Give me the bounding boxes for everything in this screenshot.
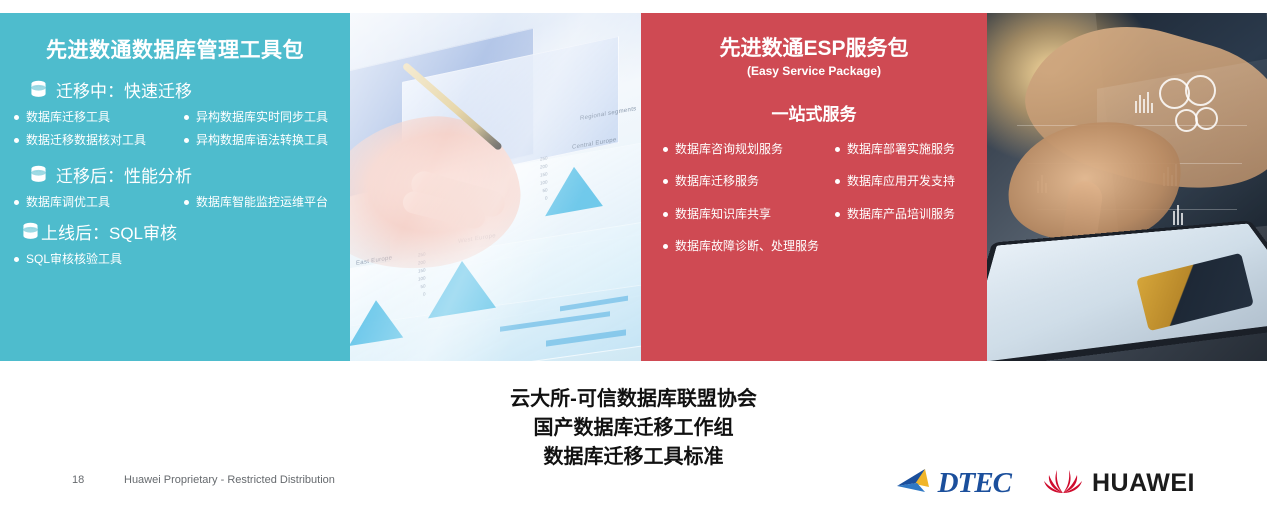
photo-hud-bar <box>1139 95 1141 113</box>
list-item: 数据库智能监控运维平台 <box>184 196 354 209</box>
bullet-dot-icon <box>835 147 840 152</box>
photo-hud-bar <box>1143 99 1145 113</box>
teal-bullet-grid-2: 数据库调优工具 数据库智能监控运维平台 <box>14 196 336 209</box>
list-item: 数据库咨询规划服务 <box>663 143 835 156</box>
list-item-label: 数据库部署实施服务 <box>847 143 955 156</box>
list-item: 数据库调优工具 <box>14 196 184 209</box>
photo-hud-bar <box>1147 92 1149 113</box>
teal-toolkit-panel: 先进数通数据库管理工具包 迁移中：快速迁移 数据库迁移工具 异构数据库实时同步工… <box>0 13 350 361</box>
teal-section-heading-2: 迁移后：性能分析 <box>30 162 336 187</box>
list-item-label: 数据库知识库共享 <box>675 208 771 221</box>
photo-hud-bar <box>1151 103 1153 113</box>
list-item: 数据库故障诊断、处理服务 <box>663 240 971 253</box>
dtec-swoosh-icon <box>895 466 937 501</box>
bullet-dot-icon <box>835 179 840 184</box>
huawei-logo: HUAWEI <box>1043 467 1195 500</box>
red-panel-subtitle: (Easy Service Package) <box>657 64 971 78</box>
bullet-dot-icon <box>663 147 668 152</box>
list-item-label: 数据库应用开发支持 <box>847 175 955 188</box>
teal-section-heading-3: 上线后：SQL审核 <box>22 219 336 244</box>
list-item-label: 异构数据库语法转换工具 <box>196 134 328 147</box>
list-item: 异构数据库语法转换工具 <box>184 134 354 147</box>
tablet-photo <box>987 13 1267 361</box>
page-number: 18 <box>72 474 84 486</box>
red-panel-title: 先进数通ESP服务包 <box>657 37 971 61</box>
bullet-dot-icon <box>663 244 668 249</box>
footer-logos: DTEC HUAWEI <box>895 466 1195 501</box>
caption-line-1: 云大所-可信数据库联盟协会 <box>0 385 1267 414</box>
list-item: 数据库知识库共享 <box>663 208 835 221</box>
dtec-logo: DTEC <box>895 466 1011 501</box>
red-panel-section-title: 一站式服务 <box>657 100 971 125</box>
bullet-dot-icon <box>184 200 189 205</box>
huawei-wordmark: HUAWEI <box>1092 471 1195 496</box>
list-item-label: 数据库迁移工具 <box>26 111 110 124</box>
list-item-label: 数据库智能监控运维平台 <box>196 196 328 209</box>
teal-section-label-1: 迁移中：快速迁移 <box>56 77 192 102</box>
slide-caption: 云大所-可信数据库联盟协会 国产数据库迁移工作组 数据库迁移工具标准 <box>0 385 1267 472</box>
bullet-dot-icon <box>835 212 840 217</box>
charts-photo: Regional segments Central Europe West Eu… <box>350 13 641 361</box>
bullet-dot-icon <box>14 138 19 143</box>
bullet-dot-icon <box>663 179 668 184</box>
list-item: 数据库应用开发支持 <box>835 175 995 188</box>
slide-footer: 18 Huawei Proprietary - Restricted Distr… <box>0 466 1267 500</box>
teal-section-label-3: 上线后：SQL审核 <box>41 219 177 244</box>
list-item-label: 数据库故障诊断、处理服务 <box>675 240 819 253</box>
dtec-wordmark: DTEC <box>938 469 1011 498</box>
list-item: 数据库迁移服务 <box>663 175 835 188</box>
list-item-label: 数据库咨询规划服务 <box>675 143 783 156</box>
bullet-dot-icon <box>663 212 668 217</box>
bullet-dot-icon <box>184 115 189 120</box>
huawei-flower-icon <box>1043 467 1083 500</box>
list-item: 数据库部署实施服务 <box>835 143 995 156</box>
bullet-dot-icon <box>14 200 19 205</box>
photo-hud-bar <box>1177 205 1179 225</box>
photo-axis-ticks: 250200150100500 <box>540 154 548 203</box>
list-item: 异构数据库实时同步工具 <box>184 111 354 124</box>
teal-panel-title: 先进数通数据库管理工具包 <box>14 38 336 63</box>
bullet-dot-icon <box>14 115 19 120</box>
slide-content-band: 先进数通数据库管理工具包 迁移中：快速迁移 数据库迁移工具 异构数据库实时同步工… <box>0 13 1267 361</box>
photo-hud-bar <box>1173 211 1175 225</box>
teal-bullet-grid-3: SQL审核核验工具 <box>14 253 336 266</box>
list-item-label: 数据迁移数据核对工具 <box>26 134 146 147</box>
database-icon <box>30 80 47 99</box>
red-bullet-last: 数据库故障诊断、处理服务 <box>657 240 971 253</box>
copyright-notice: Huawei Proprietary - Restricted Distribu… <box>124 474 335 486</box>
list-item-label: SQL审核核验工具 <box>26 253 122 266</box>
caption-line-2: 国产数据库迁移工作组 <box>0 414 1267 443</box>
red-bullet-grid: 数据库咨询规划服务 数据库部署实施服务 数据库迁移服务 数据库应用开发支持 数据… <box>657 143 971 221</box>
photo-hud-bar <box>1135 101 1137 113</box>
list-item-label: 数据库迁移服务 <box>675 175 759 188</box>
red-esp-panel: 先进数通ESP服务包 (Easy Service Package) 一站式服务 … <box>641 13 987 361</box>
list-item: 数据库迁移工具 <box>14 111 184 124</box>
database-icon <box>30 165 47 184</box>
list-item: 数据迁移数据核对工具 <box>14 134 184 147</box>
photo-hud-ring-icon <box>1195 107 1218 130</box>
list-item-label: 数据库调优工具 <box>26 196 110 209</box>
list-item-label: 异构数据库实时同步工具 <box>196 111 328 124</box>
photo-hud-ring-icon <box>1185 75 1216 106</box>
list-item: SQL审核核验工具 <box>14 253 336 266</box>
database-icon <box>22 222 39 241</box>
teal-section-label-2: 迁移后：性能分析 <box>56 162 192 187</box>
teal-section-heading-1: 迁移中：快速迁移 <box>30 77 336 102</box>
bullet-dot-icon <box>14 257 19 262</box>
photo-area-chart <box>350 296 403 346</box>
teal-bullet-grid-1: 数据库迁移工具 异构数据库实时同步工具 数据迁移数据核对工具 异构数据库语法转换… <box>14 111 336 147</box>
list-item: 数据库产品培训服务 <box>835 208 995 221</box>
bullet-dot-icon <box>184 138 189 143</box>
photo-hud-bar <box>1181 213 1183 225</box>
list-item-label: 数据库产品培训服务 <box>847 208 955 221</box>
